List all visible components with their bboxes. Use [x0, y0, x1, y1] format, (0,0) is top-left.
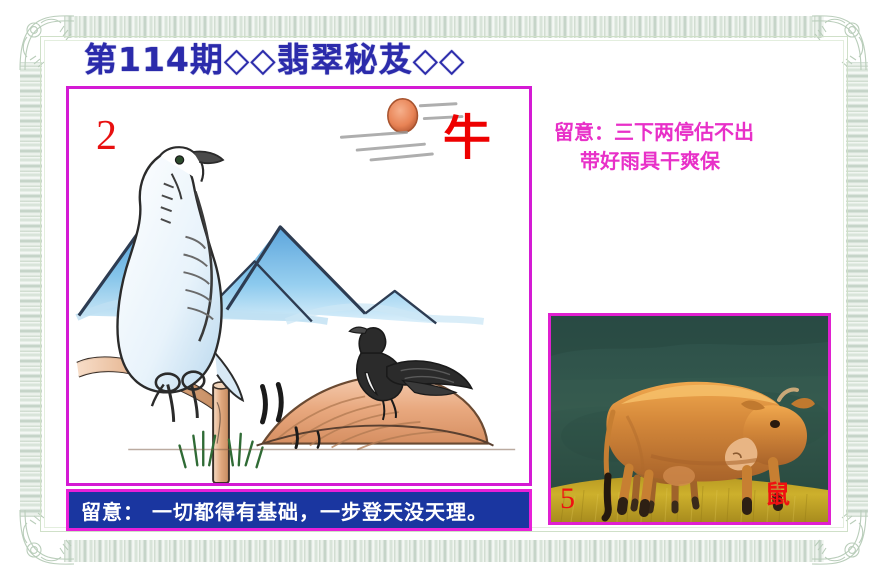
photo-badge-number: 5	[560, 484, 575, 514]
border-band-left	[20, 62, 42, 517]
illustration-badge-number: 2	[96, 115, 117, 157]
page-title: 第114期◇◇翡翠秘芨◇◇	[84, 33, 465, 81]
sun-icon	[388, 99, 418, 132]
note-block: 留意：三下两停估不出 带好雨具干爽保	[554, 118, 844, 176]
illustration-badge-zodiac: 牛	[443, 114, 491, 162]
border-band-bottom	[64, 540, 824, 562]
note-line-1: 留意：三下两停估不出	[554, 120, 754, 144]
caption-text: 留意： 一切都得有基础，一步登天没天理。	[69, 496, 488, 525]
poster-root: 第114期◇◇翡翠秘芨◇◇	[0, 0, 887, 582]
photo-badge-zodiac: 鼠	[765, 482, 790, 507]
caption-bar: 留意： 一切都得有基础，一步登天没天理。	[66, 489, 532, 531]
note-line-2: 带好雨具干爽保	[554, 147, 844, 176]
border-band-right	[846, 62, 868, 517]
